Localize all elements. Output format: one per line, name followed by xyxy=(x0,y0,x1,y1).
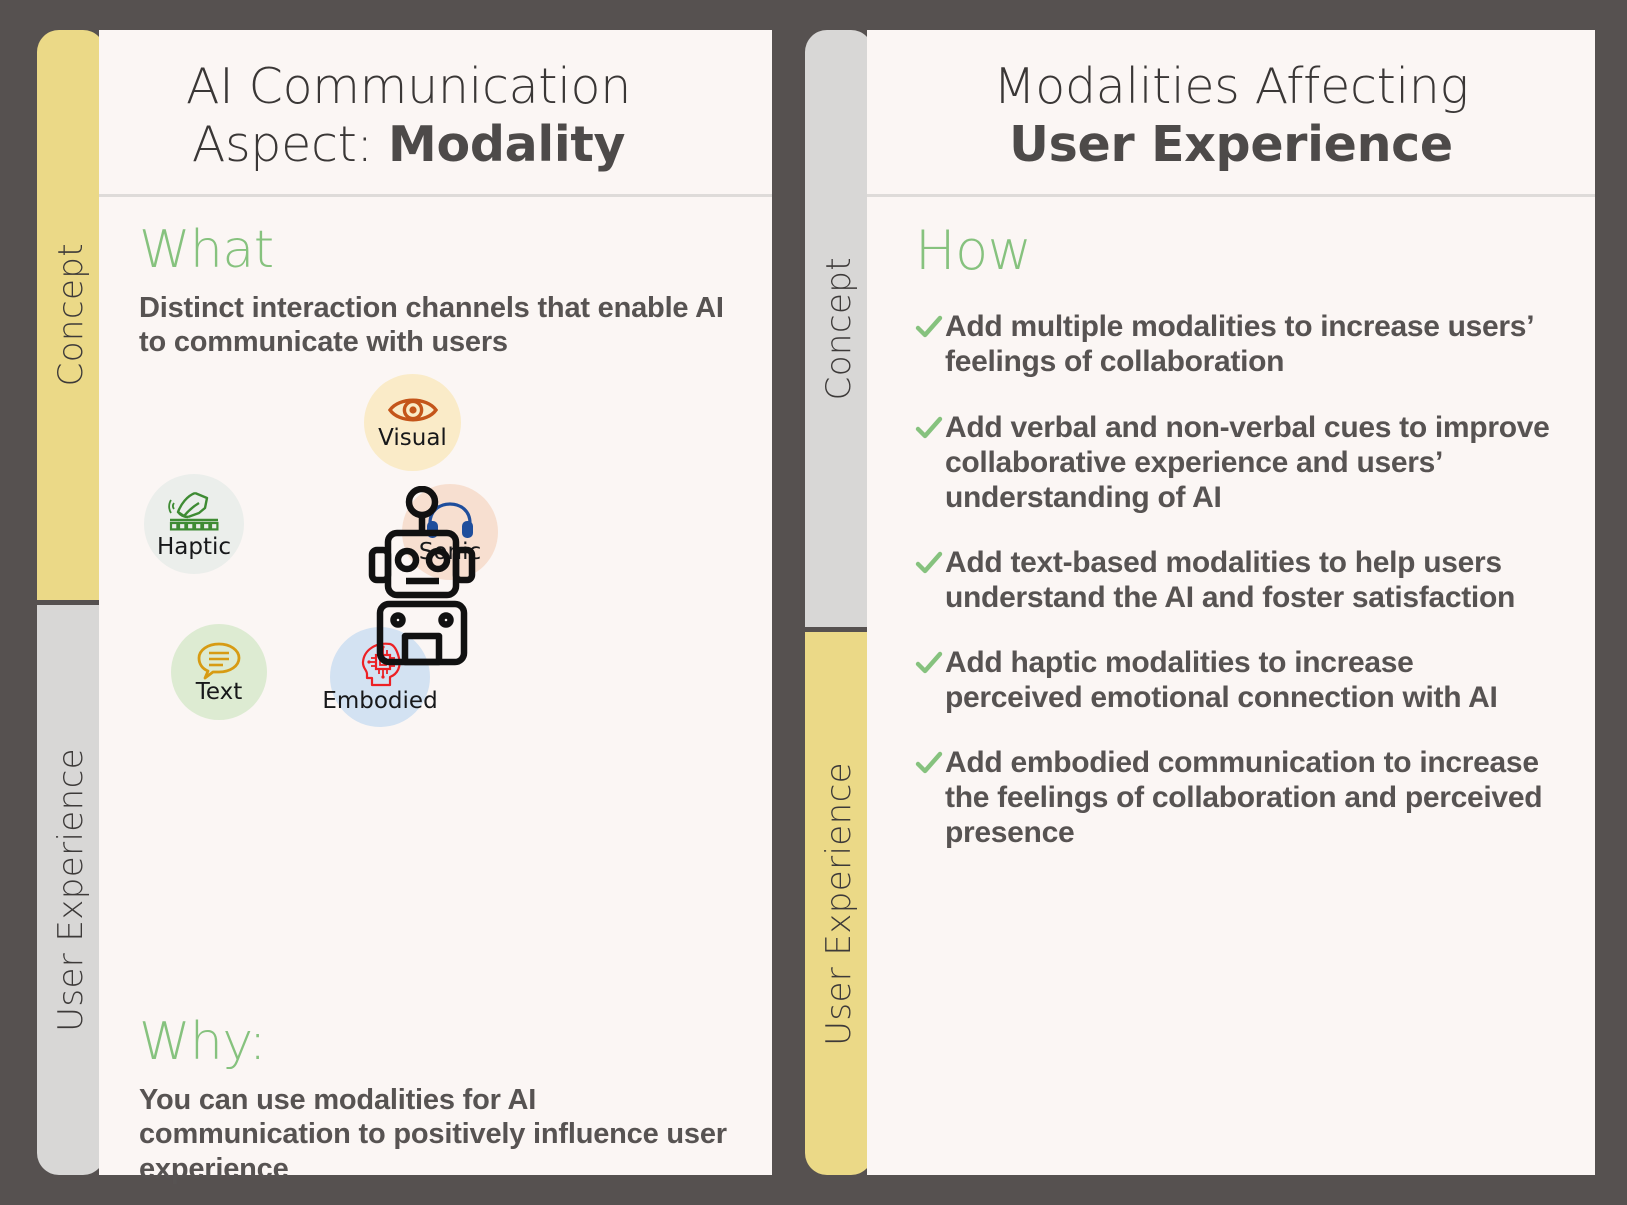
left-card-panel: AI Communication Aspect: Modality What D… xyxy=(99,30,772,1175)
right-card-header: Modalities Affecting User Experience xyxy=(867,30,1595,197)
what-text: Distinct interaction channels that enabl… xyxy=(139,291,738,359)
check-icon xyxy=(915,751,945,780)
list-item[interactable]: Add text-based modalities to help users … xyxy=(915,545,1555,615)
list-item[interactable]: Add multiple modalities to increase user… xyxy=(915,309,1555,379)
rail-tab-user-experience[interactable]: User Experience xyxy=(37,605,105,1175)
list-item-text: Add multiple modalities to increase user… xyxy=(945,309,1555,379)
what-heading: What xyxy=(139,223,738,278)
check-icon xyxy=(915,551,945,580)
rail-tab-concept[interactable]: Concept xyxy=(37,30,105,600)
modality-label-text: Text xyxy=(196,681,243,704)
rail-tab-user-experience-right[interactable]: User Experience xyxy=(805,632,873,1175)
rail-tab-user-experience-label: User Experience xyxy=(51,748,91,1032)
modality-label-embodied: Embodied xyxy=(322,690,437,713)
check-icon xyxy=(915,315,945,344)
rail-tab-user-experience-right-label: User Experience xyxy=(819,762,859,1046)
user-experience-card-modalities: Concept User Experience Modalities Affec… xyxy=(805,30,1595,1175)
modality-label-haptic: Haptic xyxy=(157,536,231,559)
right-card-title-line1: Modalities Affecting xyxy=(993,58,1468,115)
modality-label-visual: Visual xyxy=(378,427,447,450)
right-card-rail: Concept User Experience xyxy=(805,30,873,1175)
right-card-title: Modalities Affecting User Experience xyxy=(887,58,1575,174)
speech-bubble-icon xyxy=(195,640,243,680)
poster-canvas: Concept User Experience AI Communication… xyxy=(0,0,1627,1205)
list-item-text: Add text-based modalities to help users … xyxy=(945,545,1555,615)
modality-bubble-text[interactable]: Text xyxy=(171,624,267,720)
hand-touch-icon xyxy=(165,489,223,535)
left-card-title-line2-prefix: Aspect: xyxy=(192,116,388,173)
list-item[interactable]: Add embodied communication to increase t… xyxy=(915,745,1555,850)
right-card-body: How Add multiple modalities to increase … xyxy=(867,197,1595,1140)
left-card-header: AI Communication Aspect: Modality xyxy=(99,30,772,197)
modality-bubble-visual[interactable]: Visual xyxy=(364,374,461,471)
modality-bubble-haptic[interactable]: Haptic xyxy=(144,474,244,574)
concept-card-modality: Concept User Experience AI Communication… xyxy=(37,30,772,1175)
how-check-list: Add multiple modalities to increase user… xyxy=(915,309,1555,850)
list-item[interactable]: Add haptic modalities to increase percei… xyxy=(915,645,1555,715)
list-item-text: Add verbal and non-verbal cues to improv… xyxy=(945,410,1555,515)
check-icon xyxy=(915,651,945,680)
list-item[interactable]: Add verbal and non-verbal cues to improv… xyxy=(915,410,1555,515)
rail-tab-concept-right[interactable]: Concept xyxy=(805,30,873,627)
modality-diagram: Visual xyxy=(139,374,738,724)
left-card-title: AI Communication Aspect: Modality xyxy=(115,58,702,174)
left-card-title-line1: AI Communication xyxy=(186,58,631,115)
left-card-body: What Distinct interaction channels that … xyxy=(99,197,772,1140)
why-text: You can use modalities for AI communicat… xyxy=(139,1083,738,1186)
check-icon xyxy=(915,416,945,445)
why-block: Why: You can use modalities for AI commu… xyxy=(139,1015,738,1186)
list-item-text: Add embodied communication to increase t… xyxy=(945,745,1555,850)
how-heading: How xyxy=(915,223,1555,280)
why-heading: Why: xyxy=(139,1015,738,1070)
eye-icon xyxy=(387,394,439,426)
right-card-panel: Modalities Affecting User Experience How… xyxy=(867,30,1595,1175)
left-card-rail: Concept User Experience xyxy=(37,30,105,1175)
rail-tab-concept-label: Concept xyxy=(51,243,91,386)
list-item-text: Add haptic modalities to increase percei… xyxy=(945,645,1555,715)
right-card-title-line2-bold: User Experience xyxy=(1009,116,1453,173)
left-card-title-line2-bold: Modality xyxy=(388,116,625,173)
rail-tab-concept-right-label: Concept xyxy=(819,257,859,400)
robot-icon xyxy=(364,486,480,676)
